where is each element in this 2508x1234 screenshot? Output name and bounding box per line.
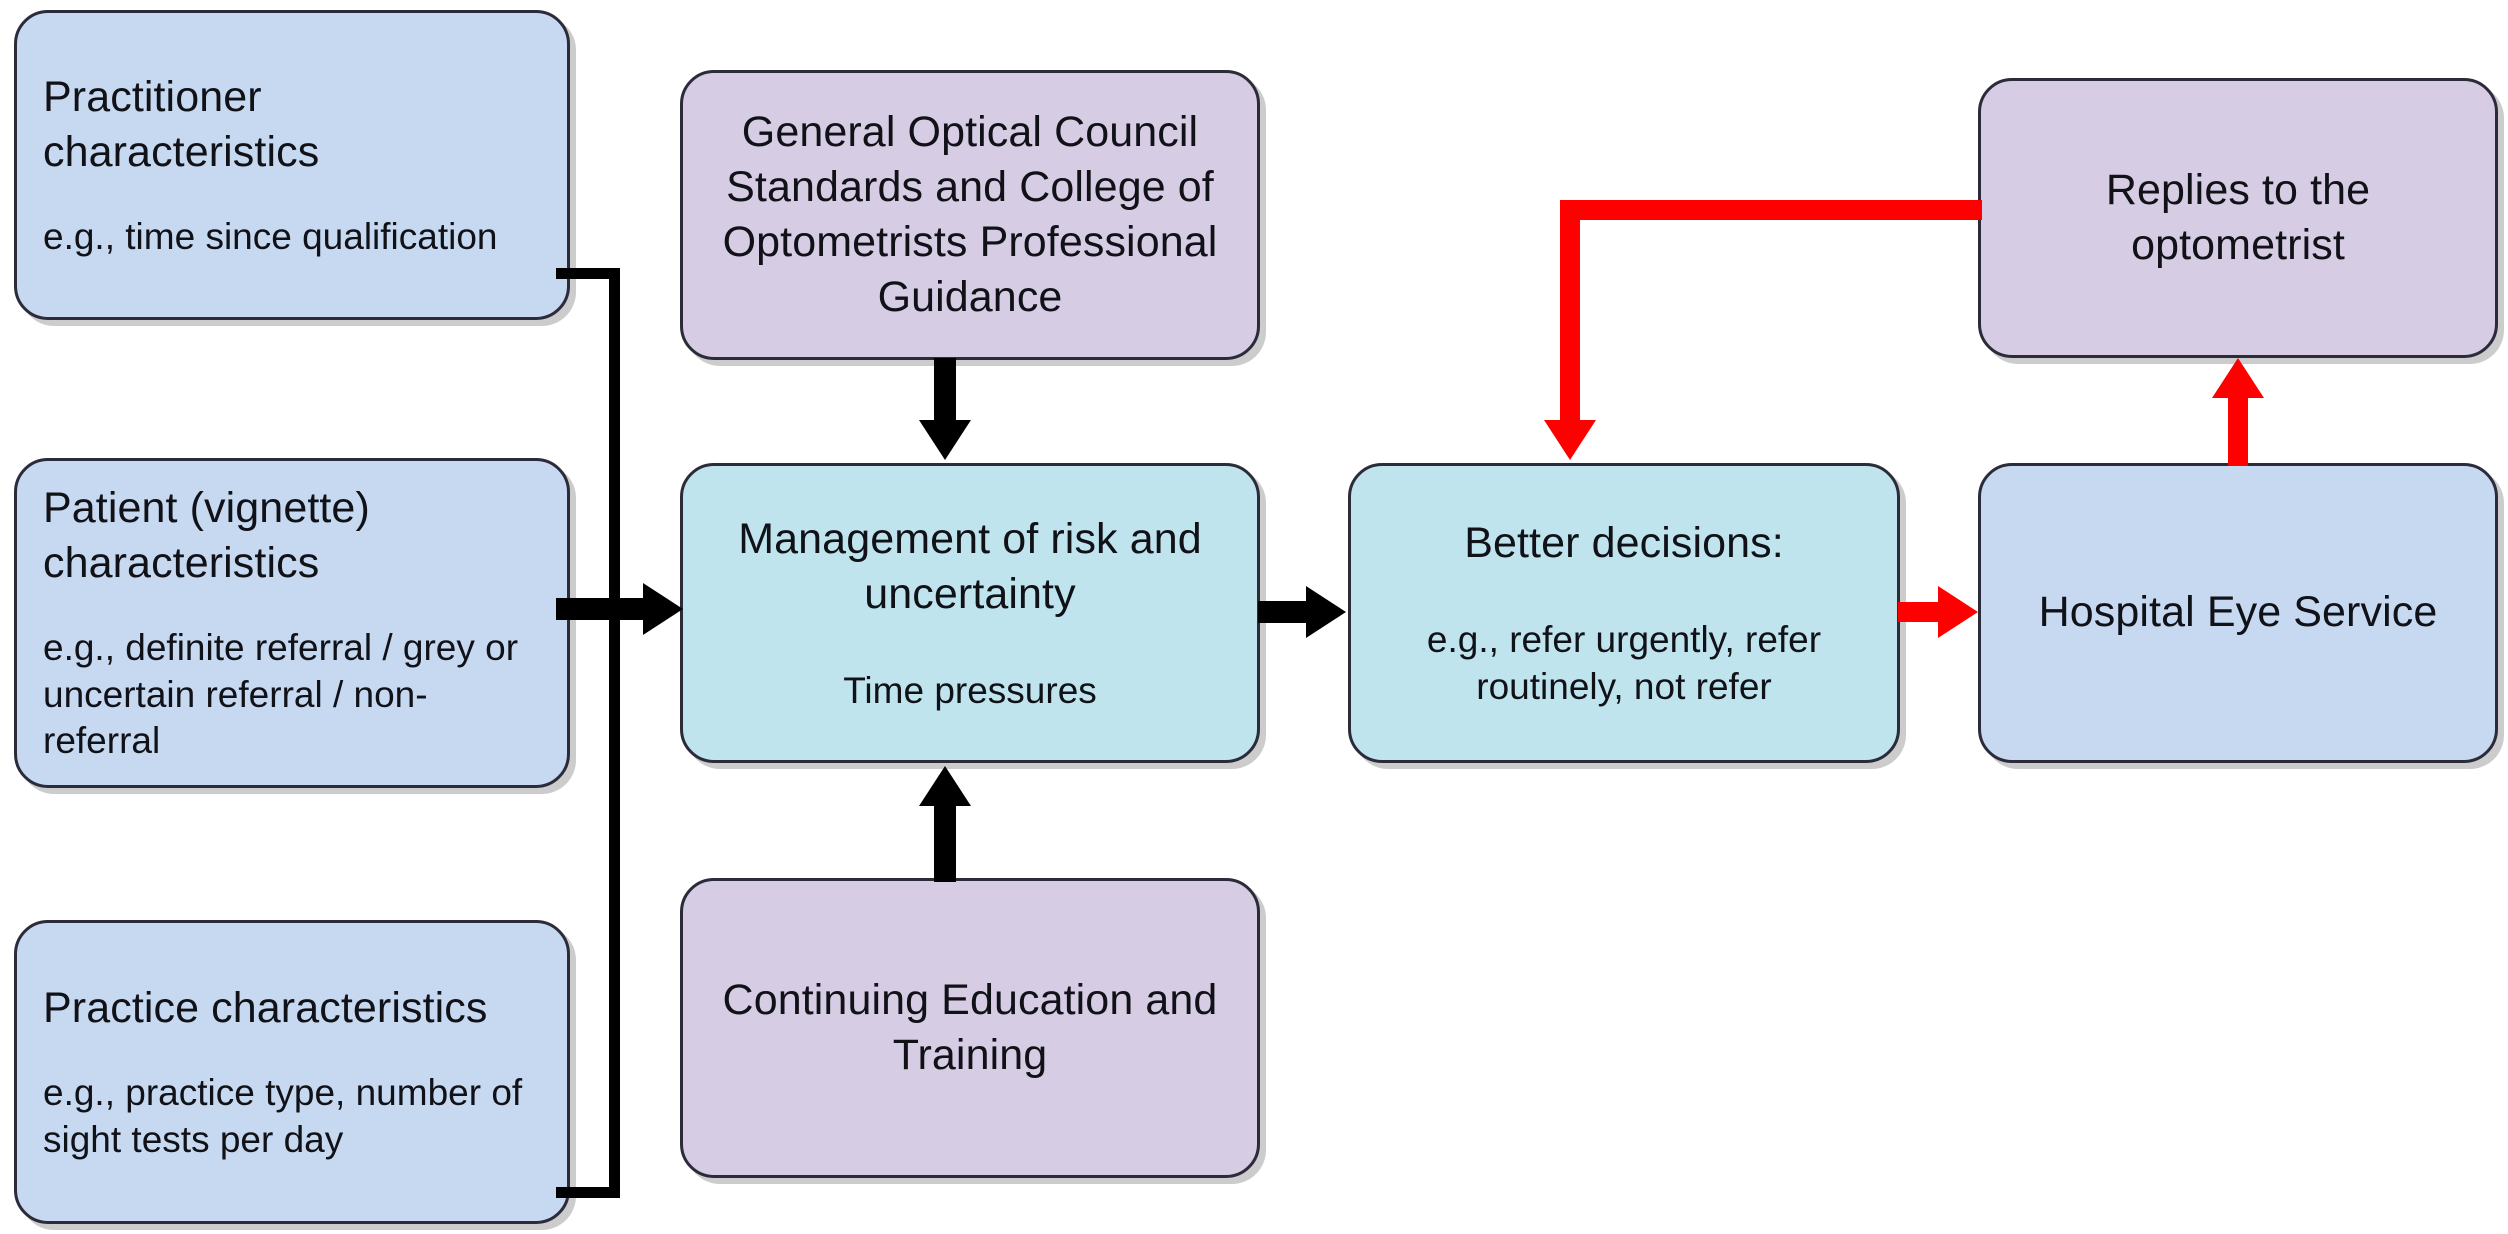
edge-practice-horizontal <box>556 1187 620 1198</box>
edge-hes-to-replies-arrowhead <box>2212 358 2264 398</box>
node-continuing-education[interactable]: Continuing Education and Training <box>680 878 1260 1178</box>
edge-replies-to-decisions-horizontal <box>1560 200 1982 220</box>
flowchart-canvas: Practitioner characteristics e.g., time … <box>0 0 2508 1234</box>
node-patient-sub: e.g., definite referral / grey or uncert… <box>43 625 541 765</box>
node-replies-to-optometrist[interactable]: Replies to the optometrist <box>1978 78 2498 358</box>
node-decisions-sub: e.g., refer urgently, refer routinely, n… <box>1375 617 1873 710</box>
node-guidance[interactable]: General Optical Council Standards and Co… <box>680 70 1260 360</box>
node-practitioner-characteristics[interactable]: Practitioner characteristics e.g., time … <box>14 10 570 320</box>
node-practitioner-sub: e.g., time since qualification <box>43 214 498 261</box>
node-patient-title: Patient (vignette) characteristics <box>43 481 541 591</box>
edge-guidance-to-management-line <box>934 358 956 428</box>
edge-replies-to-decisions-vertical <box>1560 200 1580 430</box>
node-management-of-risk[interactable]: Management of risk and uncertainty Time … <box>680 463 1260 763</box>
node-practice-title: Practice characteristics <box>43 981 487 1036</box>
node-decisions-title: Better decisions: <box>1464 516 1784 571</box>
node-practice-sub: e.g., practice type, number of sight tes… <box>43 1070 541 1163</box>
node-better-decisions[interactable]: Better decisions: e.g., refer urgently, … <box>1348 463 1900 763</box>
node-practice-characteristics[interactable]: Practice characteristics e.g., practice … <box>14 920 570 1224</box>
edge-patient-to-management-arrowhead <box>643 583 683 635</box>
edge-guidance-to-management-arrowhead <box>919 420 971 460</box>
node-replies-title: Replies to the optometrist <box>2005 163 2471 273</box>
edge-cet-to-management-line <box>934 800 956 882</box>
edge-hes-to-replies-line <box>2228 396 2248 466</box>
node-hes-title: Hospital Eye Service <box>2039 585 2438 640</box>
node-management-title: Management of risk and uncertainty <box>707 512 1233 622</box>
edge-decisions-to-hes-arrowhead <box>1938 586 1978 638</box>
edge-left-bracket-spine <box>609 268 620 1198</box>
edge-management-to-decisions-arrowhead <box>1306 586 1346 638</box>
edge-replies-to-decisions-arrowhead <box>1544 420 1596 460</box>
node-management-sub: Time pressures <box>843 668 1097 715</box>
node-guidance-title: General Optical Council Standards and Co… <box>707 105 1233 325</box>
node-practitioner-title: Practitioner characteristics <box>43 70 541 180</box>
node-cet-title: Continuing Education and Training <box>707 973 1233 1083</box>
edge-cet-to-management-arrowhead <box>919 766 971 806</box>
node-patient-characteristics[interactable]: Patient (vignette) characteristics e.g.,… <box>14 458 570 788</box>
node-hospital-eye-service[interactable]: Hospital Eye Service <box>1978 463 2498 763</box>
